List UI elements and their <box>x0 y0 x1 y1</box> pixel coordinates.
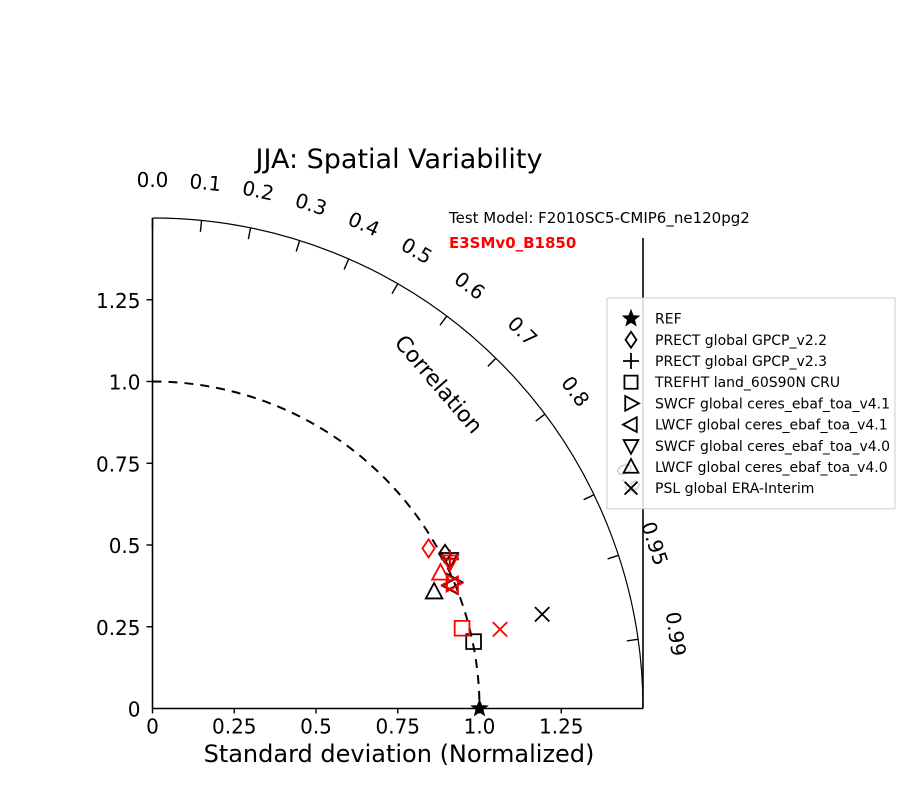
correlation-tick-label: 0.2 <box>240 176 276 206</box>
x-axis-tick-labels: 00.250.50.751.01.25 <box>146 715 583 739</box>
taylor-diagram-figure: JJA: Spatial Variability Test Model: F20… <box>0 0 900 800</box>
page-title: JJA: Spatial Variability <box>254 144 543 175</box>
y-tick-label: 0.25 <box>96 616 141 640</box>
y-axis-tick-labels: 00.250.50.751.01.25 <box>96 289 141 722</box>
legend-item-label: LWCF global ceres_ebaf_toa_v4.0 <box>655 460 888 476</box>
y-tick-label: 0 <box>128 698 141 722</box>
legend-item[interactable]: SWCF global ceres_ebaf_toa_v4.0 <box>624 439 890 455</box>
y-tick-label: 1.0 <box>109 371 141 395</box>
y-tick-label: 0.75 <box>96 452 141 476</box>
correlation-tick-label: 0.1 <box>188 169 222 196</box>
legend-item[interactable]: SWCF global ceres_ebaf_toa_v4.1 <box>625 396 890 412</box>
legend-item-label: LWCF global ceres_ebaf_toa_v4.1 <box>655 418 888 434</box>
legend-item-label: TREFHT land_60S90N CRU <box>654 375 840 391</box>
correlation-tick-label: 0.7 <box>503 311 543 350</box>
legend-item[interactable]: TREFHT land_60S90N CRU <box>624 375 840 391</box>
legend-item-label: SWCF global ceres_ebaf_toa_v4.1 <box>655 396 890 412</box>
x-tick-label: 0.25 <box>212 715 257 739</box>
x-tick-label: 1.0 <box>464 715 496 739</box>
x-tick-label: 1.25 <box>539 715 584 739</box>
reference-model-annotation: E3SMv0_B1850 <box>449 234 576 252</box>
legend-item[interactable]: PRECT global GPCP_v2.2 <box>626 332 827 349</box>
data-marker <box>493 622 507 636</box>
x-tick-label: 0.5 <box>300 715 332 739</box>
legend-item-label: PRECT global GPCP_v2.2 <box>655 333 827 349</box>
correlation-tick-label: 0.0 <box>137 168 169 192</box>
data-marker <box>426 583 443 598</box>
correlation-tick-label: 0.4 <box>345 207 384 242</box>
legend-item[interactable]: LWCF global ceres_ebaf_toa_v4.0 <box>624 459 888 476</box>
correlation-axis-label-text: Correlation <box>389 331 487 439</box>
x-tick-label: 0 <box>146 715 159 739</box>
legend-item-label: REF <box>655 312 682 328</box>
plot-canvas: JJA: Spatial Variability Test Model: F20… <box>0 0 900 800</box>
correlation-axis-label: Correlation <box>389 331 487 439</box>
test-model-annotation: Test Model: F2010SC5-CMIP6_ne120pg2 <box>448 209 750 228</box>
legend: REFPRECT global GPCP_v2.2PRECT global GP… <box>607 298 895 509</box>
plot-structure <box>147 218 644 714</box>
x-tick-label: 0.75 <box>375 715 420 739</box>
y-tick-label: 1.25 <box>96 289 141 313</box>
x-axis-label: Standard deviation (Normalized) <box>204 740 595 768</box>
legend-item-label: PSL global ERA-Interim <box>655 481 814 497</box>
legend-item-label: SWCF global ceres_ebaf_toa_v4.0 <box>655 439 890 455</box>
correlation-tick-label: 0.95 <box>636 519 673 569</box>
data-marker <box>535 607 549 621</box>
y-tick-label: 0.5 <box>109 534 141 558</box>
correlation-tick-label: 0.3 <box>292 188 330 220</box>
correlation-tick-label: 0.8 <box>556 371 594 411</box>
legend-item-label: PRECT global GPCP_v2.3 <box>655 354 827 370</box>
data-point-markers <box>422 539 549 715</box>
correlation-tick-label: 0.5 <box>397 232 437 269</box>
correlation-tick-label: 0.99 <box>661 610 691 657</box>
correlation-tick-label: 0.6 <box>450 267 490 305</box>
legend-item[interactable]: LWCF global ceres_ebaf_toa_v4.1 <box>623 417 888 433</box>
